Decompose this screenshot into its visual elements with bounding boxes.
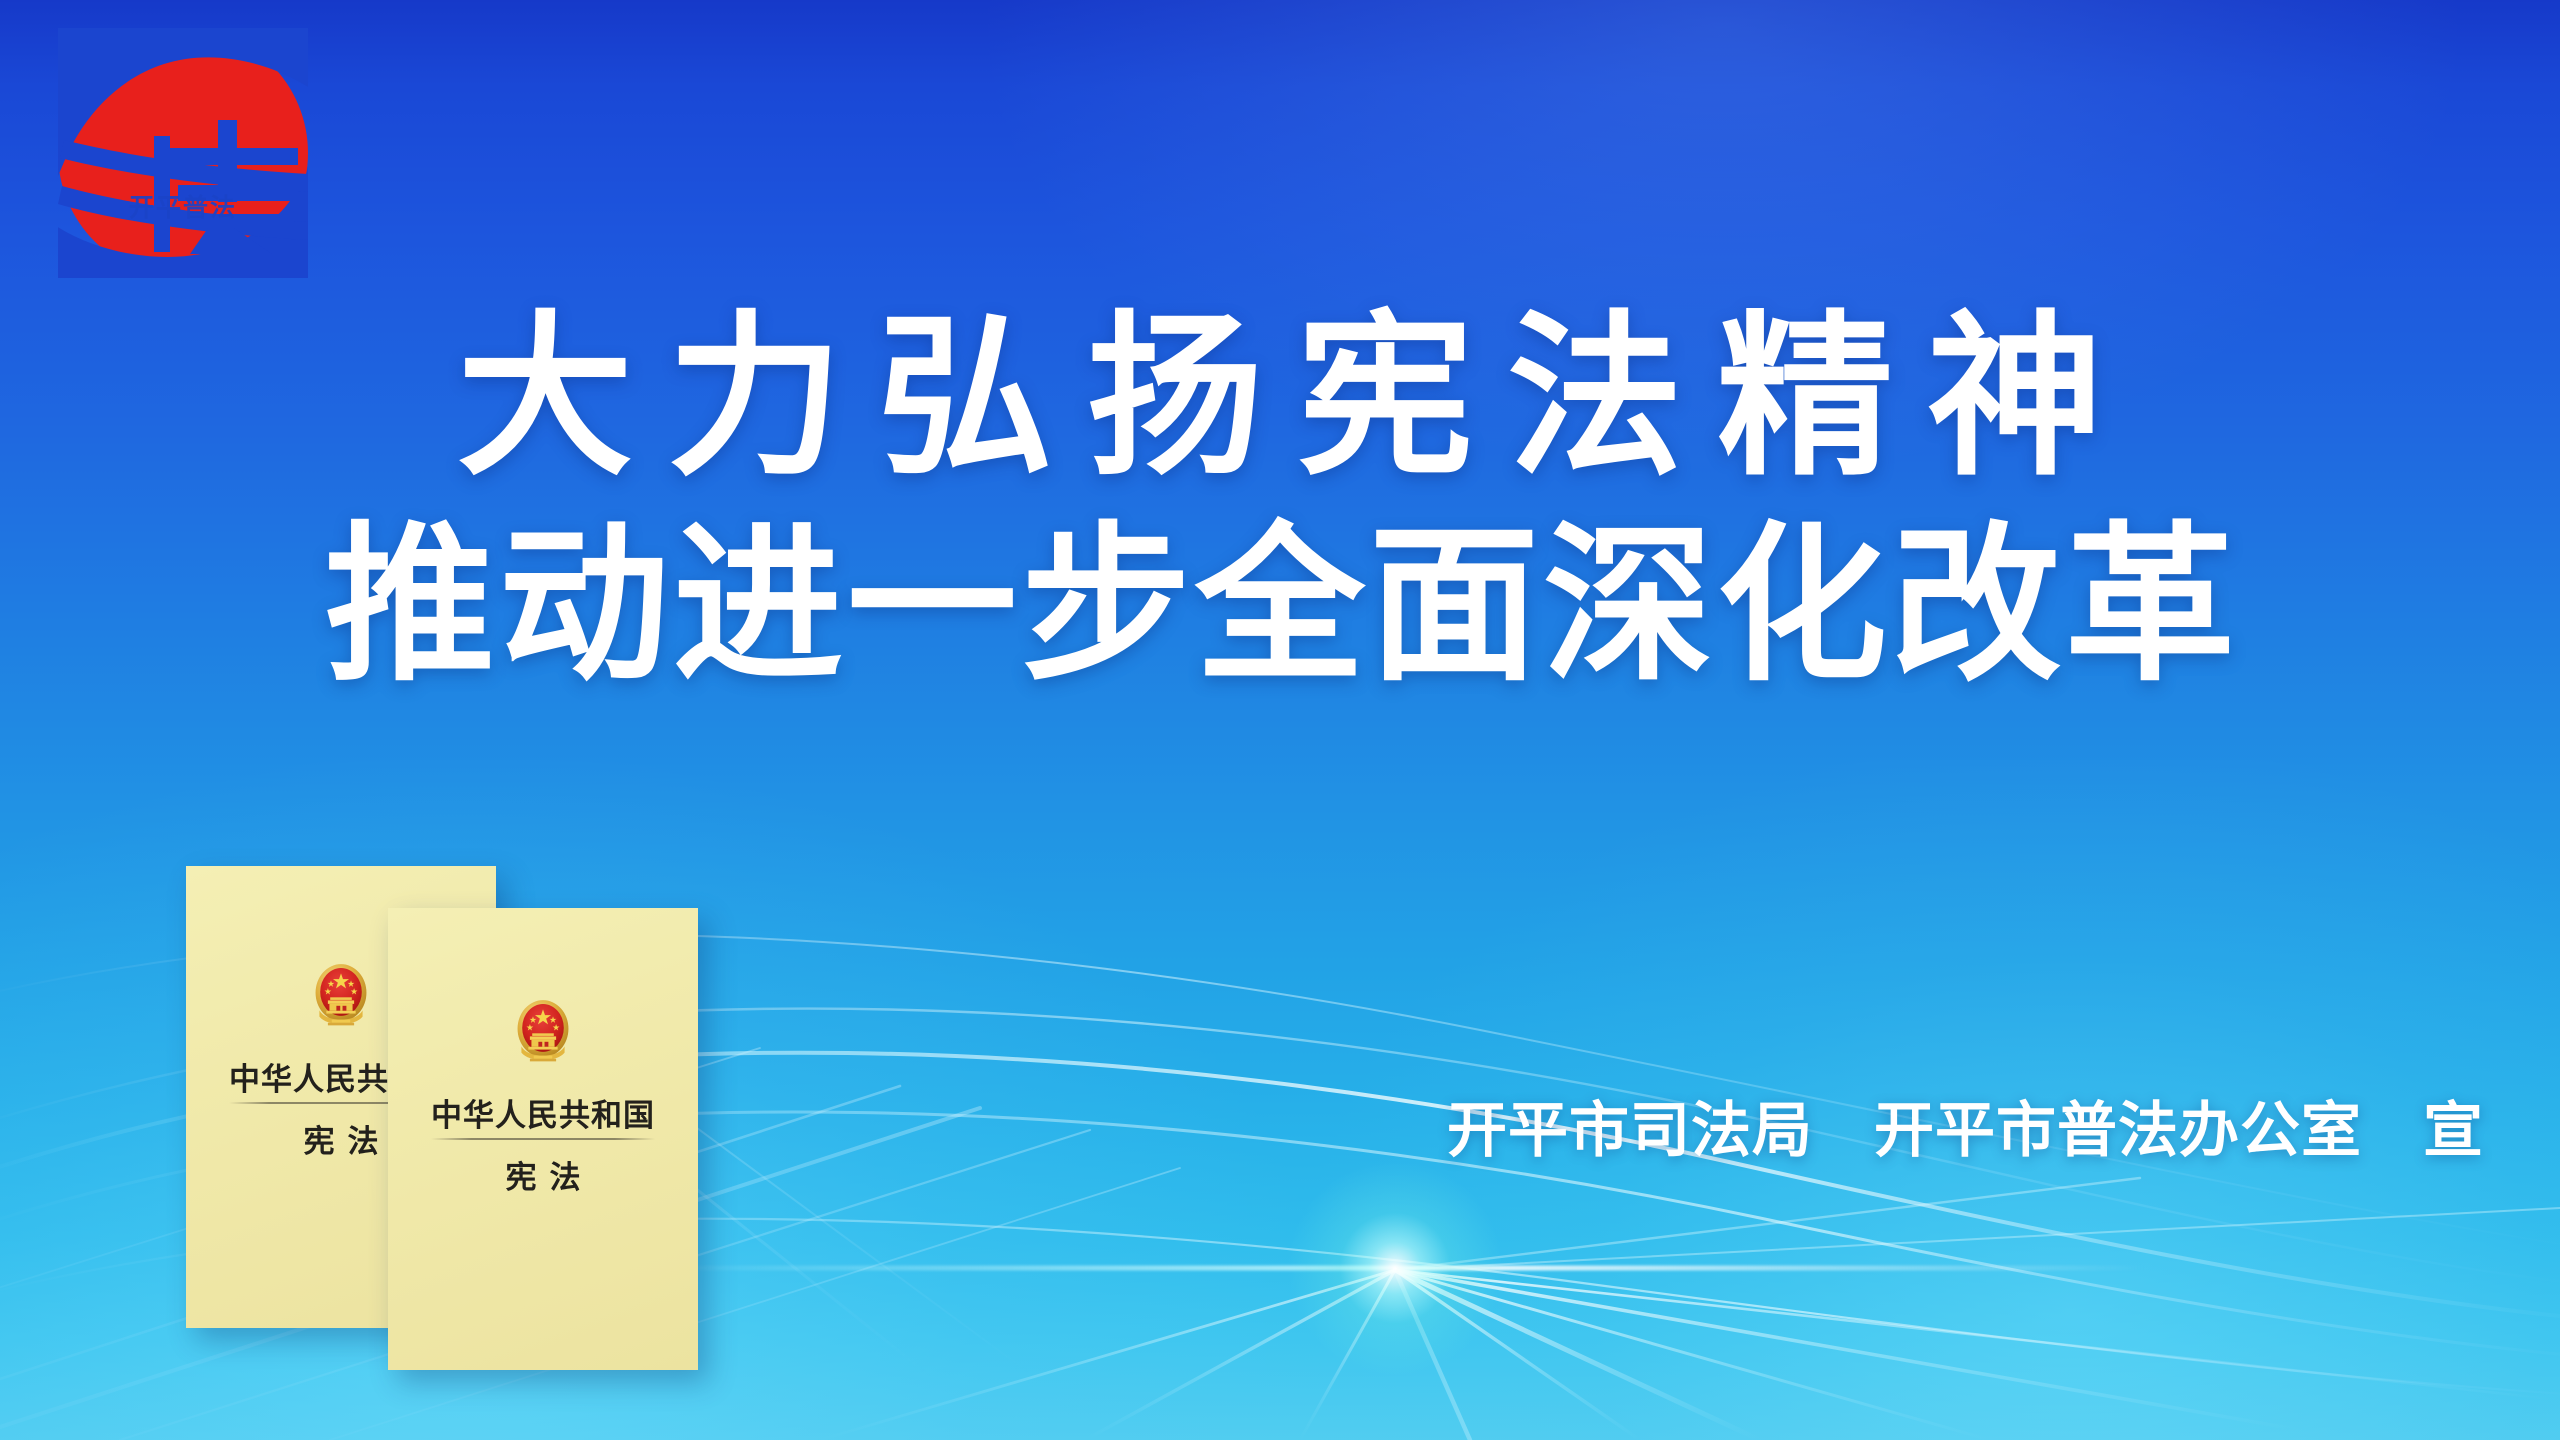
- headline-line-2: 推动进一步全面深化改革: [0, 511, 2560, 701]
- fa-character-icon: [58, 28, 308, 278]
- logo-subtitle: 开平普法: [58, 188, 308, 224]
- constitution-book-front: 中华人民共和国 宪法: [388, 908, 698, 1370]
- national-emblem-icon: [302, 958, 380, 1032]
- propaganda-poster: 开平普法 大力弘扬宪法精神 推动进一步全面深化改革: [0, 0, 2560, 1440]
- attribution-text: 开平市司法局 开平市普法办公室 宣: [1447, 1082, 2484, 1169]
- headline: 大力弘扬宪法精神 推动进一步全面深化改革: [0, 300, 2560, 702]
- light-burst: [1280, 1153, 1510, 1383]
- light-burst-streak: [645, 1266, 2145, 1271]
- headline-line-1: 大力弘扬宪法精神: [0, 300, 2560, 497]
- book-title-rule: [431, 1138, 654, 1140]
- national-emblem-icon: [504, 994, 582, 1068]
- book-title-line-2: 宪法: [388, 1152, 698, 1197]
- kaiping-pufa-logo: 开平普法: [58, 28, 308, 278]
- book-title-line-1: 中华人民共和国: [388, 1090, 698, 1135]
